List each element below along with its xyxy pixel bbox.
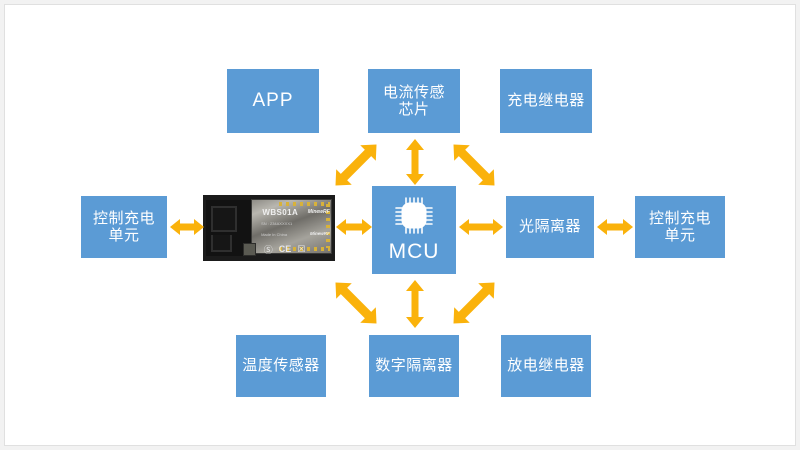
node-control-charge-unit-right-label: 控制充电单元 (641, 210, 719, 245)
node-app[interactable]: APP (227, 69, 319, 133)
node-discharge-relay-label: 放电继电器 (503, 357, 589, 374)
node-control-charge-unit-left[interactable]: 控制充电单元 (81, 196, 167, 258)
module-antenna-trace (211, 206, 237, 232)
prohibition-mark-icon: Ⓢ (264, 243, 273, 256)
arrow-module-mcu (335, 217, 373, 237)
node-temperature-sensor-label: 温度传感器 (238, 357, 324, 374)
node-mcu-label: MCU (389, 240, 440, 264)
node-control-charge-unit-right[interactable]: 控制充电单元 (635, 196, 725, 258)
module-origin-text: Made In China (261, 232, 287, 237)
module-brand-logo: MinewRF (308, 209, 330, 215)
wbs01a-module-photo: WBS01A MinewRF SN : 234AXXXX1 Made In Ch… (203, 195, 335, 261)
module-pads-top (279, 202, 330, 206)
arrow-mcu-opto-isolator (458, 217, 504, 237)
arrow-mcu-temperature-sensor (325, 279, 387, 327)
module-part-number: WBS01A (262, 208, 298, 217)
arrow-mcu-app (325, 141, 387, 189)
node-current-sense-chip[interactable]: 电流传感芯片 (368, 69, 460, 133)
module-certification-marks: Ⓢ CE ☒ (264, 243, 306, 256)
node-digital-isolator-label: 数字隔离器 (371, 357, 457, 374)
weee-bin-mark-icon: ☒ (297, 244, 305, 255)
node-mcu[interactable]: MCU (372, 186, 456, 274)
node-app-label: APP (248, 90, 297, 112)
node-charge-relay-label: 充电继电器 (503, 92, 589, 109)
node-charge-relay[interactable]: 充电继电器 (500, 69, 592, 133)
node-current-sense-chip-label: 电流传感芯片 (373, 84, 455, 119)
module-crystal (243, 243, 256, 256)
module-brand-logo-secondary: MinewRF (310, 231, 330, 236)
arrow-control-charge-unit-left-module (169, 217, 205, 237)
arrow-mcu-current-sense-chip (405, 138, 425, 186)
module-serial-text: SN : 234AXXXX1 (261, 221, 292, 226)
microchip-icon (391, 196, 437, 236)
arrow-mcu-digital-isolator (405, 279, 425, 329)
node-control-charge-unit-left-label: 控制充电单元 (86, 210, 162, 245)
arrow-opto-isolator-control-charge-unit-right (596, 217, 634, 237)
node-discharge-relay[interactable]: 放电继电器 (501, 335, 591, 397)
arrow-mcu-discharge-relay (443, 279, 505, 327)
node-digital-isolator[interactable]: 数字隔离器 (369, 335, 459, 397)
node-opto-isolator[interactable]: 光隔离器 (506, 196, 594, 258)
module-antenna-trace-2 (211, 235, 232, 253)
slide-canvas: APP 电流传感芯片 充电继电器 控制充电单元 WBS01A MinewRF S… (4, 4, 796, 446)
arrow-mcu-charge-relay (443, 141, 505, 189)
ce-mark-icon: CE (279, 244, 292, 254)
node-temperature-sensor[interactable]: 温度传感器 (236, 335, 326, 397)
node-opto-isolator-label: 光隔离器 (515, 218, 585, 235)
